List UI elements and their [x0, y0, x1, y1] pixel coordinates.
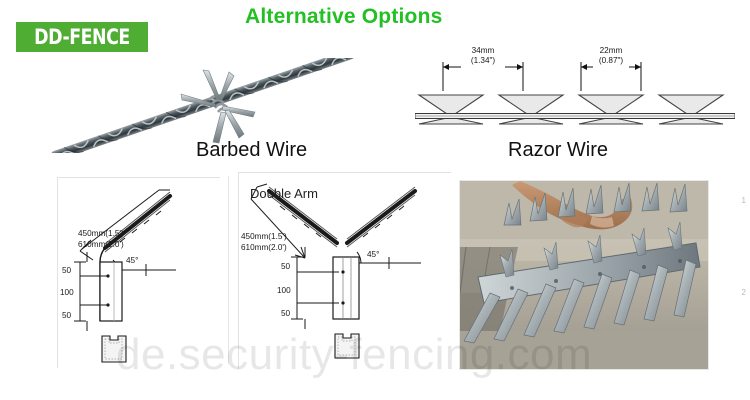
- single-arm-cross-section: [102, 336, 126, 362]
- wall-spikes-photo: [459, 180, 709, 370]
- razor-core-wire: [415, 114, 735, 119]
- razor-dim-2-imperial: (0.87"): [599, 56, 624, 65]
- single-arm-dim-mid: 100: [60, 288, 74, 297]
- single-arm-drawing: 450mm(1.5') 610mm(2.0') 45°: [58, 178, 219, 367]
- double-arm-dim-bottom: 50: [281, 309, 291, 318]
- razor-wire-illustration: 34mm (1.34") 22mm (0.87"): [415, 38, 735, 138]
- panel-divider: [228, 176, 229, 364]
- razor-dim-1-metric: 34mm: [472, 46, 495, 55]
- single-arm-panel: 450mm(1.5') 610mm(2.0') 45°: [57, 177, 220, 368]
- double-arm-right-extension: [347, 187, 415, 247]
- single-arm-dim-top: 50: [62, 266, 72, 275]
- edge-mark-top: 1: [742, 196, 746, 205]
- razor-barbs: [419, 95, 723, 124]
- double-arm-panel: 450mm(1.5') 610mm(2.0') 45°: [238, 172, 451, 369]
- edge-mark-bottom: 2: [742, 288, 746, 297]
- brand-logo: DD-FENCE: [16, 22, 148, 52]
- page-root: DD-FENCE Alternative Options: [0, 0, 750, 400]
- razor-wire-label: Razor Wire: [508, 139, 608, 162]
- double-arm-length-secondary: 610mm(2.0'): [241, 243, 287, 252]
- single-arm-angle-label: 45°: [126, 256, 138, 265]
- brand-logo-text: DD-FENCE: [34, 25, 130, 49]
- razor-dimension-1: 34mm (1.34"): [443, 46, 523, 91]
- single-arm-length-secondary: 610mm(2.0'): [78, 240, 124, 249]
- double-arm-drawing: 450mm(1.5') 610mm(2.0') 45°: [239, 173, 450, 368]
- double-arm-dimension-stack: [291, 247, 339, 329]
- wall-spikes-illustration: [460, 181, 708, 369]
- double-arm-dim-top: 50: [281, 262, 291, 271]
- double-arm-dim-mid: 100: [277, 286, 291, 295]
- double-arm-caption: Double Arm: [250, 186, 318, 201]
- page-title: Alternative Options: [245, 5, 443, 29]
- double-arm-post: [333, 257, 359, 319]
- double-arm-length-primary: 450mm(1.5'): [241, 232, 287, 241]
- double-arm-cross-section: [335, 334, 359, 358]
- single-arm-length-primary: 450mm(1.5'): [78, 229, 124, 238]
- single-arm-dim-bottom: 50: [62, 311, 72, 320]
- barbed-wire-label: Barbed Wire: [196, 139, 307, 162]
- single-arm-post: [100, 248, 122, 321]
- razor-dim-1-imperial: (1.34"): [471, 56, 496, 65]
- razor-dimension-2: 22mm (0.87"): [581, 46, 641, 91]
- razor-wire-diagram: 34mm (1.34") 22mm (0.87"): [415, 38, 735, 138]
- double-arm-angle-label: 45°: [367, 250, 379, 259]
- razor-dim-2-metric: 22mm: [600, 46, 623, 55]
